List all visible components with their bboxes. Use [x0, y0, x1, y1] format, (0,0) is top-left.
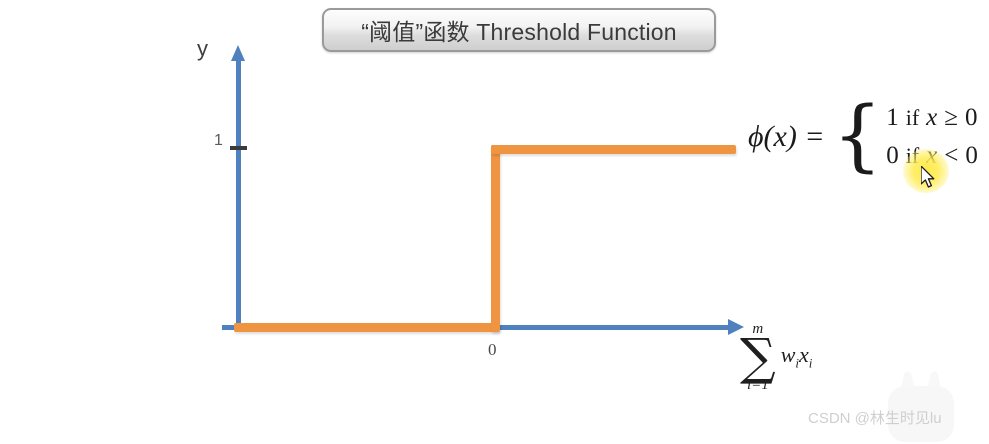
threshold-formula: ϕ(x) = { 1 if x ≥ 0 0 if x < 0 — [748, 104, 978, 170]
step-curve-lower-segment — [234, 323, 499, 332]
case2-if-keyword: if — [906, 143, 919, 169]
x-axis-summation-label: m ∑ i=1 wixi — [740, 322, 812, 393]
case1-operator: ≥ — [944, 104, 958, 132]
y-axis-tick-label-one: 1 — [214, 132, 223, 150]
step-curve-upper-segment — [491, 145, 736, 154]
summation-input-index: i — [809, 355, 813, 370]
summation-body: wixi — [781, 342, 813, 371]
summation-operator: m ∑ i=1 — [740, 322, 776, 393]
page-title: “阈值”函数 Threshold Function — [361, 13, 677, 47]
formula-left-hand-side: ϕ(x) = — [748, 120, 825, 154]
x-axis-origin-label: 0 — [488, 340, 497, 360]
case1-if-keyword: if — [906, 105, 919, 131]
case1-threshold: 0 — [965, 104, 978, 132]
mouse-cursor-icon — [921, 166, 937, 190]
curly-brace-icon: { — [833, 105, 883, 169]
case1-value: 1 — [886, 104, 899, 132]
y-axis-line — [236, 58, 241, 330]
formula-cases: 1 if x ≥ 0 0 if x < 0 — [886, 104, 978, 170]
case2-threshold: 0 — [965, 142, 978, 170]
csdn-logo-watermark-icon — [884, 368, 958, 444]
sigma-icon: ∑ — [740, 335, 776, 380]
case1-variable: x — [926, 104, 937, 132]
case2-value: 0 — [886, 142, 899, 170]
summation-lower-limit: i=1 — [747, 378, 769, 393]
title-box: “阈值”函数 Threshold Function — [322, 8, 716, 52]
summation-weight-symbol: w — [781, 342, 796, 367]
slide-canvas: “阈值”函数 Threshold Function y 1 0 m ∑ i=1 … — [0, 0, 989, 444]
y-axis-tick-one — [230, 146, 247, 150]
case2-operator: < — [944, 142, 958, 170]
step-curve-vertical-riser — [491, 145, 500, 332]
watermark-text: CSDN @林生时见lu — [808, 407, 942, 428]
y-axis-label: y — [197, 36, 208, 62]
y-axis-arrowhead-icon — [231, 45, 245, 61]
summation-input-symbol: x — [799, 342, 809, 367]
formula-case-row-positive: 1 if x ≥ 0 — [886, 104, 978, 132]
